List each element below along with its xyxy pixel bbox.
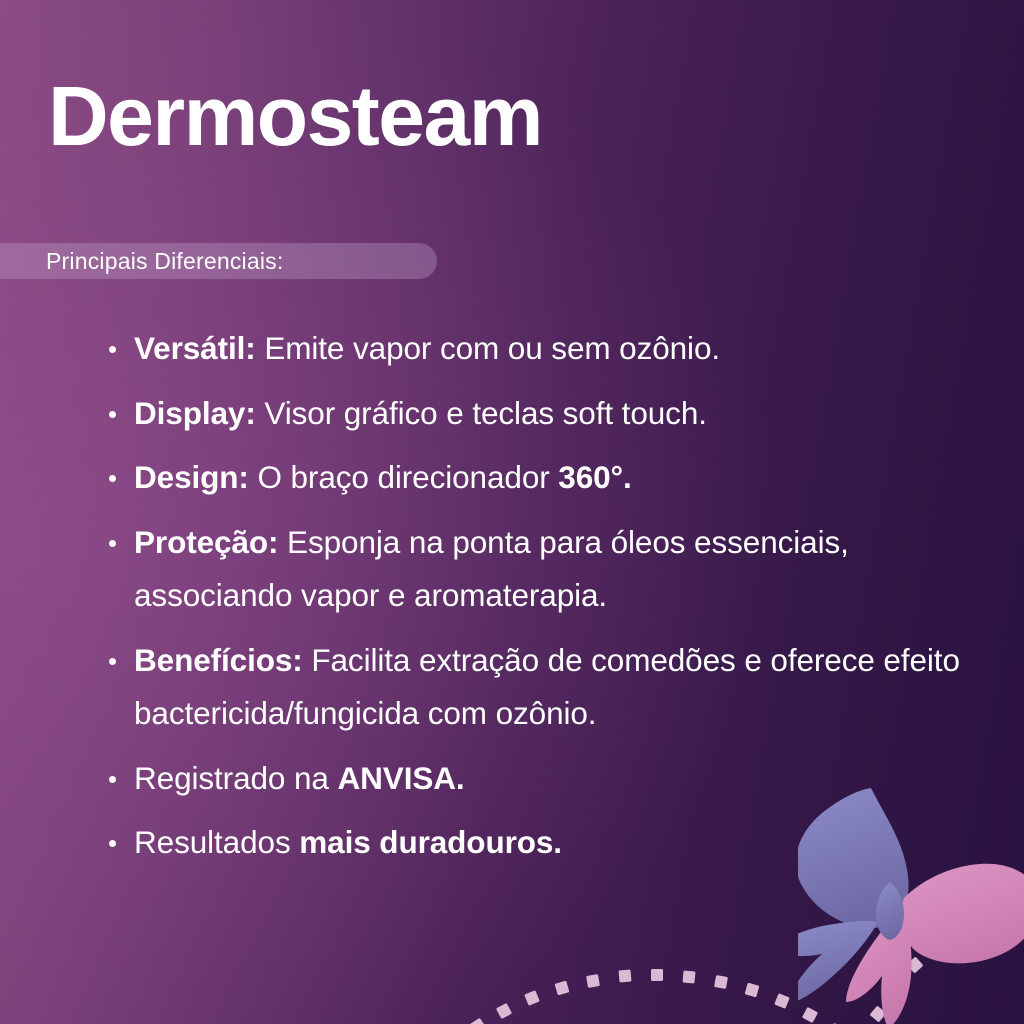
list-item-text: Emite vapor com ou sem ozônio. (256, 330, 720, 366)
list-item: Versátil: Emite vapor com ou sem ozônio. (104, 322, 984, 376)
subtitle-pill: Principais Diferenciais: (0, 243, 437, 279)
differentials-list: Versátil: Emite vapor com ou sem ozônio.… (104, 322, 984, 881)
list-item: Registrado na ANVISA. (104, 752, 984, 806)
list-item-lead: Proteção: (134, 524, 278, 560)
list-item: Design: O braço direcionador 360°. (104, 451, 984, 505)
list-item: Resultados mais duradouros. (104, 816, 984, 870)
dotted-trail-icon (440, 904, 940, 1024)
list-item-lead: Display: (134, 395, 256, 431)
promo-poster: Dermosteam Principais Diferenciais: Vers… (0, 0, 1024, 1024)
list-item-lead: Versátil: (134, 330, 256, 366)
list-item: Benefícios: Facilita extração de comedõe… (104, 634, 984, 741)
subtitle-pill-label: Principais Diferenciais: (46, 248, 283, 275)
list-item-lead: Design: (134, 459, 249, 495)
list-item-tail: ANVISA. (337, 760, 464, 796)
page-title: Dermosteam (48, 74, 542, 158)
list-item-tail: 360°. (558, 459, 631, 495)
list-item-text: Resultados (134, 824, 299, 860)
list-item: Display: Visor gráfico e teclas soft tou… (104, 387, 984, 441)
list-item-lead: Benefícios: (134, 642, 303, 678)
list-item-text: Visor gráfico e teclas soft touch. (256, 395, 707, 431)
list-item-tail: mais duradouros. (299, 824, 562, 860)
list-item-text: Registrado na (134, 760, 337, 796)
list-item-text: O braço direcionador (249, 459, 558, 495)
list-item: Proteção: Esponja na ponta para óleos es… (104, 516, 984, 623)
